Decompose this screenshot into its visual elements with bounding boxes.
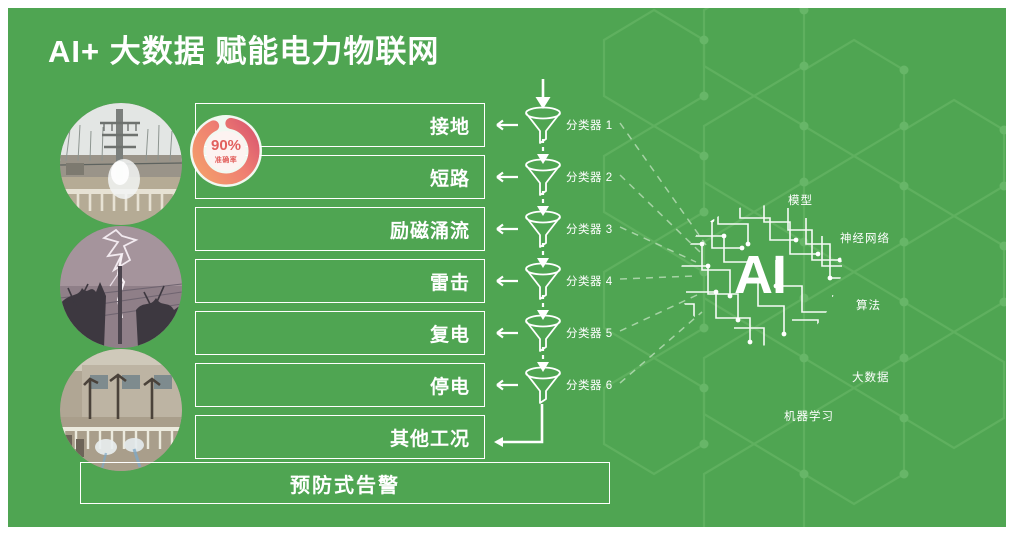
preventive-alert-label: 预防式告警 [290, 469, 400, 498]
category-label: 其他工况 [390, 424, 484, 451]
flow-arrow-left-3 [489, 223, 519, 235]
infographic-canvas: AI+ 大数据 赋能电力物联网 [0, 0, 1014, 535]
funnel-icon-1 [522, 105, 564, 145]
keyword-label-machine-learning: 机器学习 [784, 408, 834, 424]
category-row-7[interactable]: 其他工况 [195, 415, 485, 459]
category-row-3[interactable]: 励磁涌流 [195, 207, 485, 251]
ai-label: AI [672, 200, 848, 350]
category-row-5[interactable]: 复电 [195, 311, 485, 355]
funnel-icon-6 [522, 365, 564, 405]
utility-pole-fault-photo [60, 103, 182, 225]
flow-arrow-left-2 [489, 171, 519, 183]
substation-equipment-photo [60, 349, 182, 471]
funnel-icon-4 [522, 261, 564, 301]
category-row-6[interactable]: 停电 [195, 363, 485, 407]
classifier-label-3: 分类器 3 [566, 221, 613, 237]
feedback-connector [486, 404, 556, 456]
funnel-icon-3 [522, 209, 564, 249]
category-label: 接地 [430, 112, 484, 139]
canvas-edge-right [1006, 0, 1014, 535]
classifier-label-4: 分类器 4 [566, 273, 613, 289]
ai-brain-icon: AI [672, 200, 848, 350]
category-label: 复电 [430, 320, 484, 347]
category-row-4[interactable]: 雷击 [195, 259, 485, 303]
flow-arrow-left-6 [489, 379, 519, 391]
keyword-label-big-data: 大数据 [852, 369, 890, 385]
canvas-edge-bottom [0, 527, 1014, 535]
classifier-label-2: 分类器 2 [566, 169, 613, 185]
funnel-icon-5 [522, 313, 564, 353]
flow-arrow-left-4 [489, 275, 519, 287]
preventive-alert-box[interactable]: 预防式告警 [80, 462, 610, 504]
category-label: 停电 [430, 372, 484, 399]
flow-arrow-left-1 [489, 119, 519, 131]
accuracy-donut-badge: 90% 准确率 [189, 114, 263, 188]
category-label: 雷击 [430, 268, 484, 295]
classifier-label-6: 分类器 6 [566, 377, 613, 393]
keyword-label-model: 模型 [788, 192, 813, 208]
page-title: AI+ 大数据 赋能电力物联网 [48, 26, 439, 71]
canvas-edge-left [0, 0, 8, 535]
classifier-label-1: 分类器 1 [566, 117, 613, 133]
lightning-strike-photo [60, 226, 182, 348]
classifier-label-5: 分类器 5 [566, 325, 613, 341]
canvas-edge-top [0, 0, 1014, 8]
funnel-icon-2 [522, 157, 564, 197]
category-label: 励磁涌流 [390, 216, 484, 243]
keyword-label-neural-network: 神经网络 [840, 230, 890, 246]
keyword-label-algorithm: 算法 [856, 297, 881, 313]
flow-arrow-left-5 [489, 327, 519, 339]
category-label: 短路 [430, 164, 484, 191]
